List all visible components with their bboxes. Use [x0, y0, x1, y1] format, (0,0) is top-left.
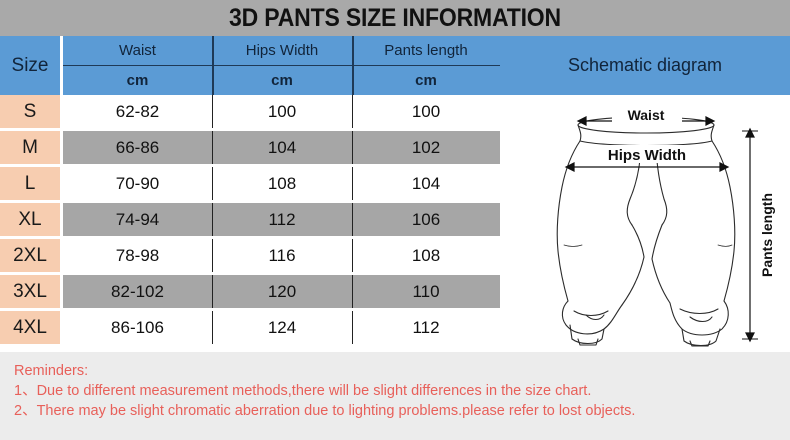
title-banner: 3D PANTS SIZE INFORMATION: [0, 0, 790, 36]
header-divider-2: [352, 36, 354, 95]
reminder-line-1: 1、Due to different measurement methods,t…: [14, 381, 790, 401]
cell-waist: 70-90: [63, 167, 212, 200]
row-divider: [352, 275, 353, 308]
row-divider: [352, 131, 353, 164]
table-row: S62-82100100: [0, 95, 500, 131]
cell-waist: 78-98: [63, 239, 212, 272]
cell-hips: 104: [212, 131, 352, 164]
header-size: Size: [0, 36, 60, 95]
cell-waist: 74-94: [63, 203, 212, 236]
cell-size: S: [0, 95, 60, 128]
cell-hips: 116: [212, 239, 352, 272]
table-row: XL74-94112106: [0, 203, 500, 239]
cell-length: 106: [352, 203, 500, 236]
header-col-waist-name: Waist: [63, 36, 212, 66]
cell-size: 2XL: [0, 239, 60, 272]
page-title: 3D PANTS SIZE INFORMATION: [32, 0, 759, 36]
cell-length: 100: [352, 95, 500, 128]
table-row: 2XL78-98116108: [0, 239, 500, 275]
header-col-length-name: Pants length: [352, 36, 500, 66]
header-col-hips-name: Hips Width: [212, 36, 352, 66]
cell-waist: 82-102: [63, 275, 212, 308]
row-divider: [352, 311, 353, 344]
row-divider: [212, 311, 213, 344]
row-divider: [212, 167, 213, 200]
header-col-length: Pants length cm: [352, 36, 500, 95]
row-divider: [212, 239, 213, 272]
size-chart-page: 3D PANTS SIZE INFORMATION Size Waist cm …: [0, 0, 790, 440]
cell-size: XL: [0, 203, 60, 236]
cell-waist: 86-106: [63, 311, 212, 344]
row-divider: [352, 239, 353, 272]
cell-hips: 120: [212, 275, 352, 308]
row-divider: [352, 167, 353, 200]
cell-length: 110: [352, 275, 500, 308]
cell-waist: 62-82: [63, 95, 212, 128]
cell-size: M: [0, 131, 60, 164]
reminder-line-2: 2、There may be slight chromatic aberrati…: [14, 401, 790, 421]
reminders-section: Reminders: 1、Due to different measuremen…: [0, 352, 790, 440]
size-table-body: S62-82100100M66-86104102L70-90108104XL74…: [0, 95, 500, 347]
header-col-waist-unit: cm: [63, 66, 212, 95]
row-divider: [212, 131, 213, 164]
table-row: 4XL86-106124112: [0, 311, 500, 347]
schematic-diagram: Waist Hips Width Pants length: [500, 95, 790, 347]
cell-length: 112: [352, 311, 500, 344]
reminders-heading: Reminders:: [14, 361, 790, 381]
table-row: L70-90108104: [0, 167, 500, 203]
row-divider: [352, 203, 353, 236]
cell-length: 104: [352, 167, 500, 200]
header-col-length-unit: cm: [352, 66, 500, 95]
table-row: M66-86104102: [0, 131, 500, 167]
table-row: 3XL82-102120110: [0, 275, 500, 311]
pants-drawing-icon: Waist Hips Width Pants length: [500, 95, 790, 347]
cell-hips: 108: [212, 167, 352, 200]
row-divider: [212, 275, 213, 308]
cell-size: 4XL: [0, 311, 60, 344]
header-divider-1: [212, 36, 214, 95]
header-col-hips: Hips Width cm: [212, 36, 352, 95]
cell-hips: 112: [212, 203, 352, 236]
cell-waist: 66-86: [63, 131, 212, 164]
cell-hips: 124: [212, 311, 352, 344]
header-schematic: Schematic diagram: [500, 36, 790, 95]
cell-length: 102: [352, 131, 500, 164]
cell-length: 108: [352, 239, 500, 272]
pants-length-label: Pants length: [759, 193, 775, 277]
cell-size: L: [0, 167, 60, 200]
header-measure-group: Waist cm Hips Width cm Pants length cm: [63, 36, 500, 95]
waist-label: Waist: [628, 107, 665, 123]
row-divider: [352, 95, 353, 128]
header-col-hips-unit: cm: [212, 66, 352, 95]
header-col-waist: Waist cm: [63, 36, 212, 95]
cell-hips: 100: [212, 95, 352, 128]
row-divider: [212, 95, 213, 128]
row-divider: [212, 203, 213, 236]
table-header: Size Waist cm Hips Width cm Pants length…: [0, 36, 790, 95]
cell-size: 3XL: [0, 275, 60, 308]
hips-width-label: Hips Width: [608, 147, 686, 164]
